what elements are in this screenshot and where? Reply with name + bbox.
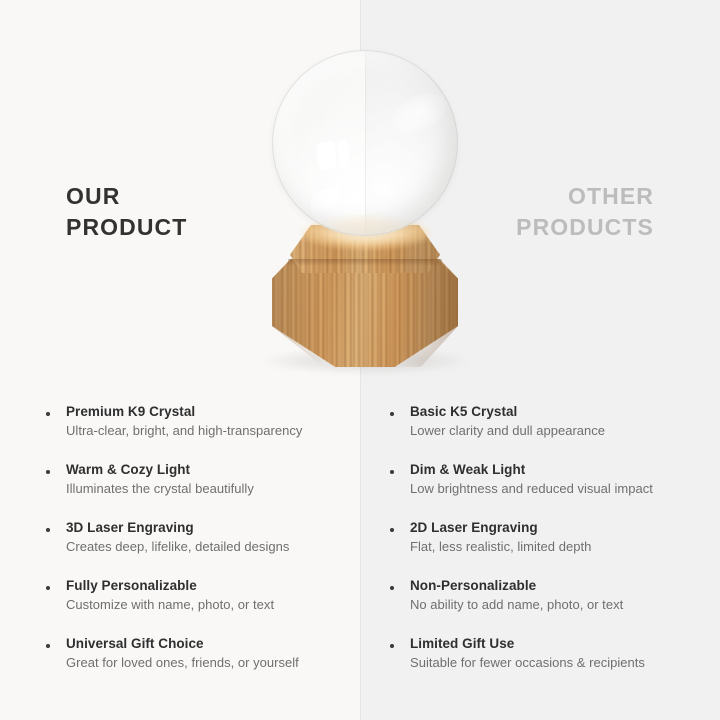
bullet-icon: [46, 470, 50, 474]
feature-title: Dim & Weak Light: [410, 461, 690, 478]
feature-description: Creates deep, lifelike, detailed designs: [66, 538, 346, 556]
bullet-icon: [390, 412, 394, 416]
bullet-icon: [46, 412, 50, 416]
feature-description: Customize with name, photo, or text: [66, 596, 346, 614]
list-item: Universal Gift Choice Great for loved on…: [46, 635, 346, 693]
feature-title: 3D Laser Engraving: [66, 519, 346, 536]
list-item: Fully Personalizable Customize with name…: [46, 577, 346, 635]
crystal-ball: [272, 50, 458, 236]
feature-title: Non-Personalizable: [410, 577, 690, 594]
bullet-icon: [390, 644, 394, 648]
list-item: Non-Personalizable No ability to add nam…: [390, 577, 690, 635]
feature-title: Limited Gift Use: [410, 635, 690, 652]
bullet-icon: [46, 644, 50, 648]
feature-description: Lower clarity and dull appearance: [410, 422, 690, 440]
base-left-shading: [272, 259, 324, 367]
feature-title: Premium K9 Crystal: [66, 403, 346, 420]
list-item: 3D Laser Engraving Creates deep, lifelik…: [46, 519, 346, 577]
feature-title: Warm & Cozy Light: [66, 461, 346, 478]
list-item: Dim & Weak Light Low brightness and redu…: [390, 461, 690, 519]
list-item: Warm & Cozy Light Illuminates the crysta…: [46, 461, 346, 519]
feature-title: Fully Personalizable: [66, 577, 346, 594]
feature-description: Great for loved ones, friends, or yourse…: [66, 654, 346, 672]
crystal-rim-shading: [272, 50, 458, 236]
our-product-feature-list: Premium K9 Crystal Ultra-clear, bright, …: [46, 403, 346, 693]
other-products-heading: OTHER PRODUCTS: [516, 181, 654, 243]
feature-description: No ability to add name, photo, or text: [410, 596, 690, 614]
feature-description: Illuminates the crystal beautifully: [66, 480, 346, 498]
product-image: [250, 40, 480, 380]
feature-description: Flat, less realistic, limited depth: [410, 538, 690, 556]
feature-description: Ultra-clear, bright, and high-transparen…: [66, 422, 346, 440]
list-item: 2D Laser Engraving Flat, less realistic,…: [390, 519, 690, 577]
comparison-infographic: OUR PRODUCT OTHER PRODUCTS Premium K9 Cr…: [0, 0, 720, 720]
feature-title: Basic K5 Crystal: [410, 403, 690, 420]
other-products-feature-list: Basic K5 Crystal Lower clarity and dull …: [390, 403, 690, 693]
our-product-heading: OUR PRODUCT: [66, 181, 187, 243]
bullet-icon: [46, 586, 50, 590]
base-right-shading: [398, 259, 458, 367]
base-tier-ridge: [288, 259, 442, 266]
bullet-icon: [390, 528, 394, 532]
bullet-icon: [390, 470, 394, 474]
feature-title: Universal Gift Choice: [66, 635, 346, 652]
feature-description: Low brightness and reduced visual impact: [410, 480, 690, 498]
list-item: Basic K5 Crystal Lower clarity and dull …: [390, 403, 690, 461]
bullet-icon: [46, 528, 50, 532]
bullet-icon: [390, 586, 394, 590]
feature-description: Suitable for fewer occasions & recipient…: [410, 654, 690, 672]
feature-title: 2D Laser Engraving: [410, 519, 690, 536]
list-item: Limited Gift Use Suitable for fewer occa…: [390, 635, 690, 693]
list-item: Premium K9 Crystal Ultra-clear, bright, …: [46, 403, 346, 461]
